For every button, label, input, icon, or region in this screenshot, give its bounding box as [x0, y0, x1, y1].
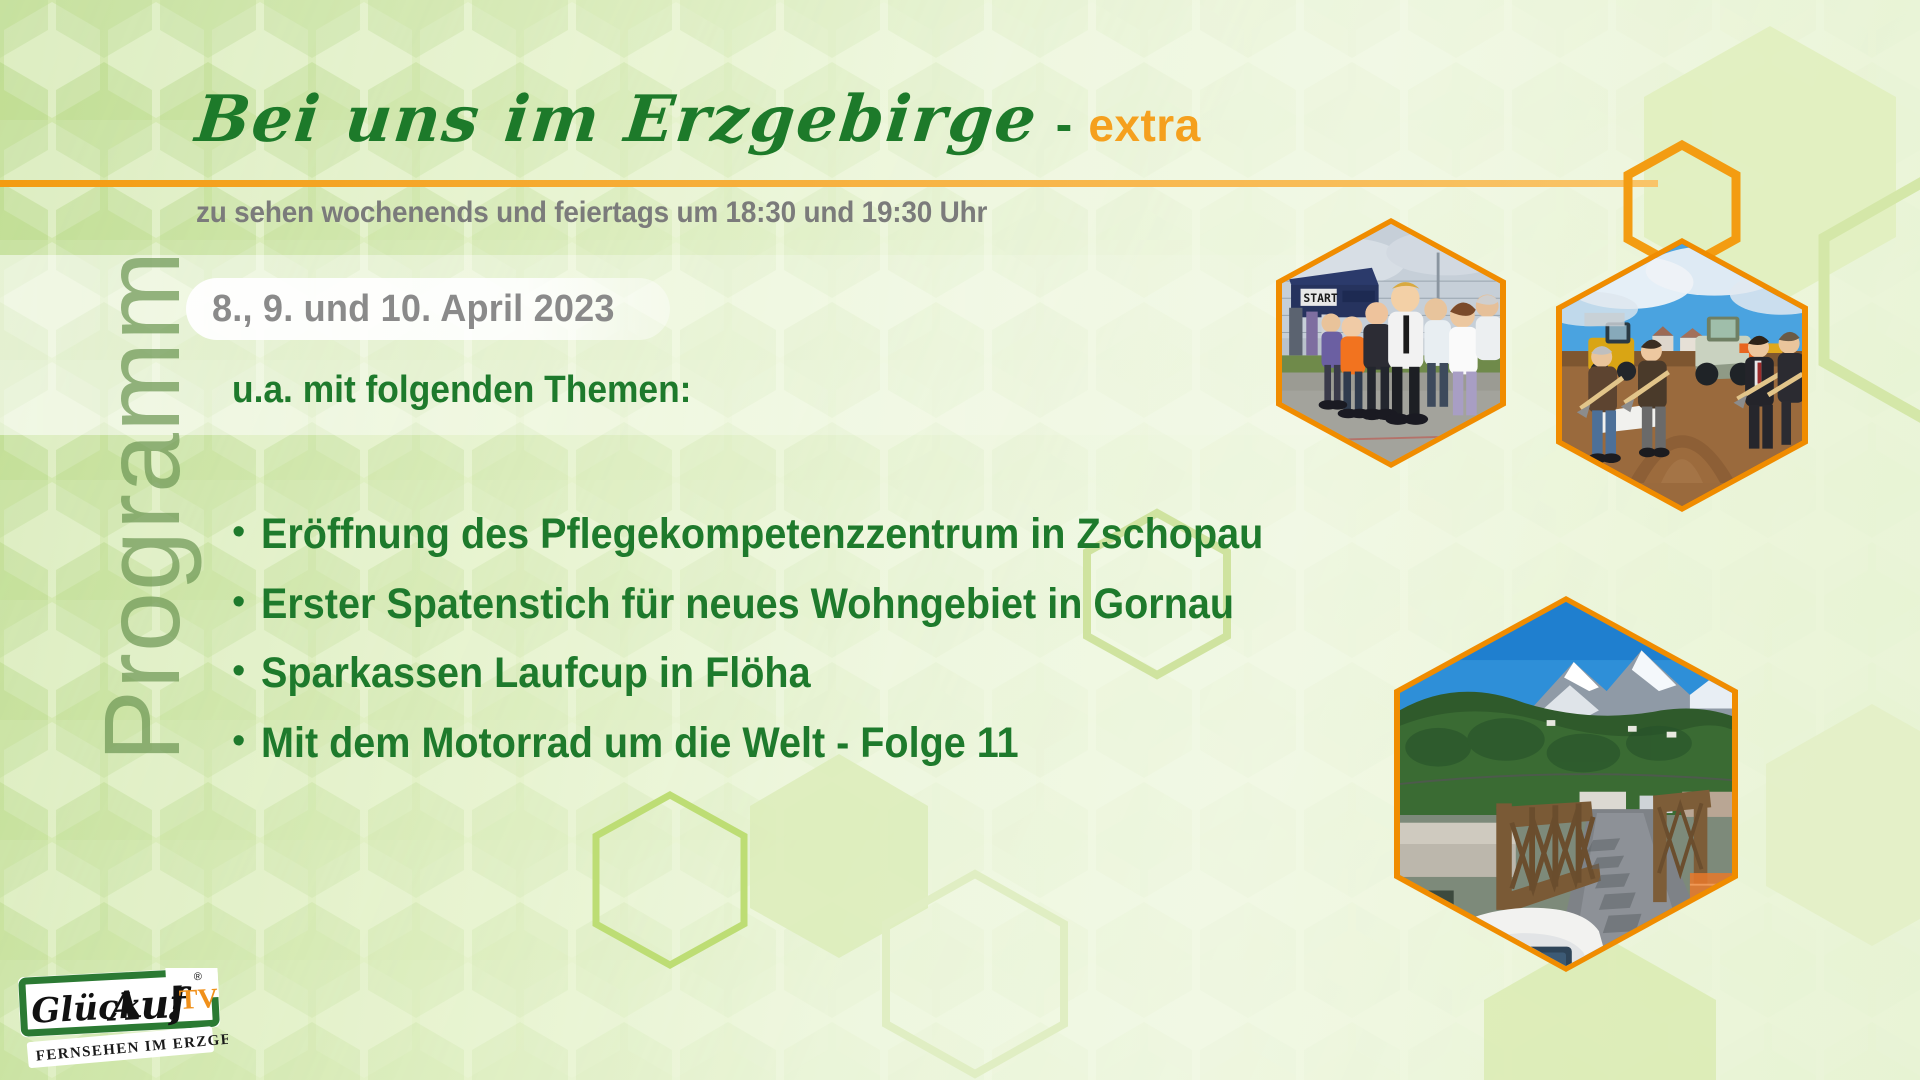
page-title: Bei uns im Erzgebirge - extra: [196, 88, 1201, 153]
glueckauf-tv-logo[interactable]: Glück Auf ! TV ® FERNSEHEN IM ERZGEBIRGE: [18, 968, 228, 1072]
hex-photo-frame: START: [1276, 218, 1506, 468]
bullet-marker-icon: •: [232, 722, 245, 760]
list-item: • Eröffnung des Pflegekompetenzzentrum i…: [232, 512, 1412, 558]
date-badge-label: 8., 9. und 10. April 2023: [212, 288, 615, 331]
hex-photo-inner: [1400, 602, 1732, 966]
list-item-label: Mit dem Motorrad um die Welt - Folge 11: [261, 721, 1019, 767]
bullet-marker-icon: •: [232, 513, 245, 551]
list-item-label: Sparkassen Laufcup in Flöha: [261, 651, 811, 697]
logo-registered-mark: ®: [194, 971, 203, 983]
list-item-label: Erster Spatenstich für neues Wohngebiet …: [261, 582, 1234, 628]
page-title-main: Bei uns im Erzgebirge: [193, 88, 1041, 152]
photo-groundbreaking-ceremony: [1556, 238, 1808, 512]
logo-tv-text: TV: [178, 983, 218, 1016]
list-item: • Mit dem Motorrad um die Welt - Folge 1…: [232, 721, 1412, 767]
photo-runners-start-line: START: [1276, 218, 1506, 468]
slide-canvas: Bei uns im Erzgebirge - extra zu sehen w…: [0, 0, 1920, 1080]
hex-photo-frame: [1556, 238, 1808, 512]
date-badge: 8., 9. und 10. April 2023: [186, 278, 670, 340]
bullet-marker-icon: •: [232, 583, 245, 621]
photo-bridge-mountains: [1394, 596, 1738, 972]
list-item: • Sparkassen Laufcup in Flöha: [232, 651, 1412, 697]
hex-photo-frame: [1394, 596, 1738, 972]
broadcast-times-subtitle: zu sehen wochenends und feiertags um 18:…: [196, 196, 987, 230]
hex-photo-inner: [1562, 244, 1802, 506]
list-item-label: Eröffnung des Pflegekompetenzzentrum in …: [261, 512, 1263, 558]
hex-photo-inner: START: [1282, 224, 1500, 462]
topics-list: • Eröffnung des Pflegekompetenzzentrum i…: [232, 512, 1412, 790]
page-title-extra: extra: [1088, 98, 1200, 152]
bullet-marker-icon: •: [232, 652, 245, 690]
topics-intro-label: u.a. mit folgenden Themen:: [232, 369, 691, 412]
orange-divider-rule: [0, 180, 1658, 187]
list-item: • Erster Spatenstich für neues Wohngebie…: [232, 582, 1412, 628]
svg-text:START: START: [1303, 291, 1337, 305]
page-title-dash: -: [1038, 95, 1089, 153]
